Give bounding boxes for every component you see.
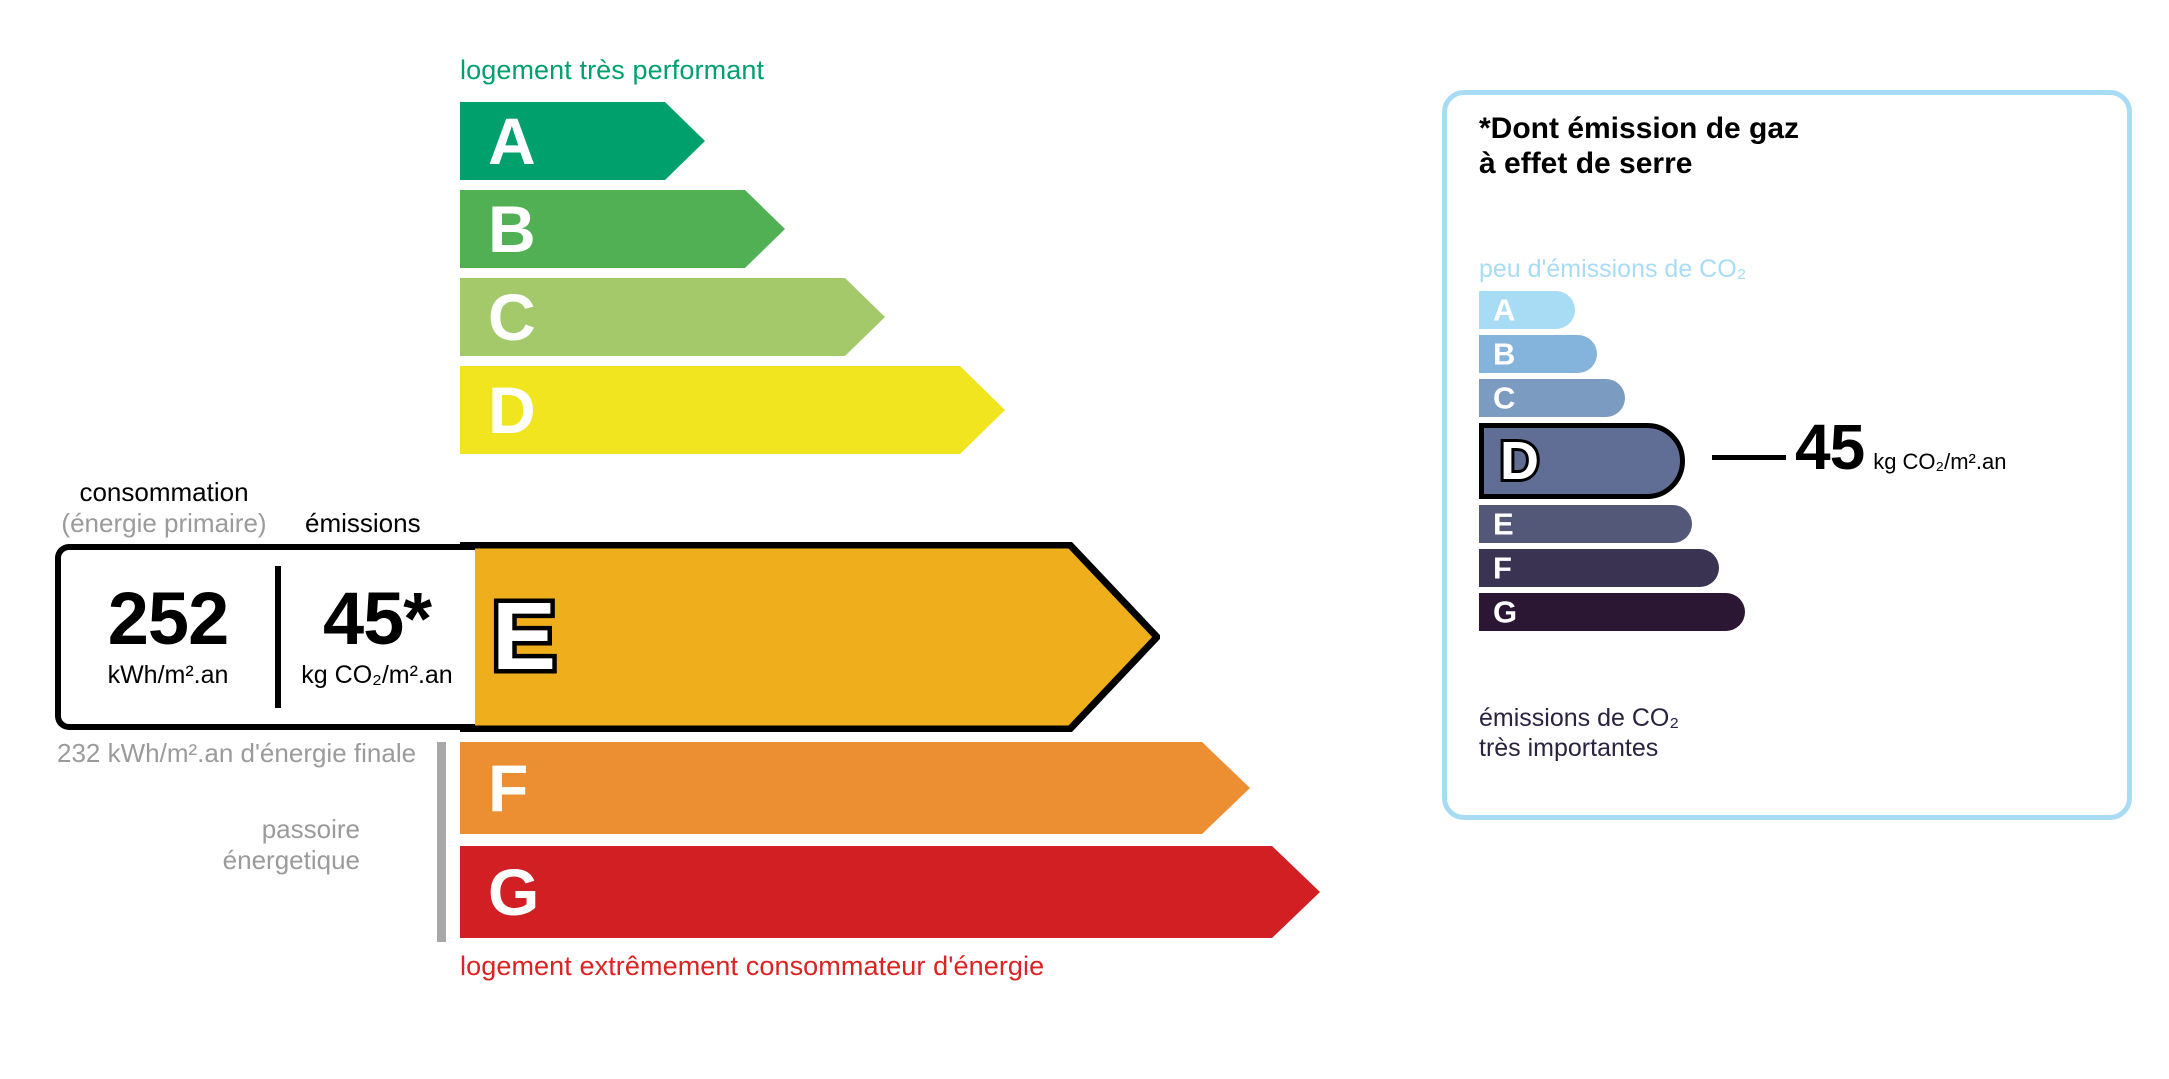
energy-performance-panel: logement très performant A B C (0, 0, 1380, 1079)
co2-caption-bottom: émissions de CO₂ très importantes (1479, 703, 1679, 763)
co2-leader-line (1712, 455, 1786, 460)
co2-bar-a: A (1479, 291, 1575, 329)
energy-caption-top: logement très performant (460, 55, 764, 86)
co2-bar-f: F (1479, 549, 1719, 587)
co2-class-row-b[interactable]: B (1479, 335, 1597, 373)
co2-class-row-c[interactable]: C (1479, 379, 1625, 417)
co2-measured-value: 45 (1795, 415, 1864, 479)
energy-arrow-g: G (460, 846, 1320, 938)
label-energie-primaire: (énergie primaire) (44, 508, 284, 539)
co2-emission-value: 45* (323, 584, 431, 654)
note-final-energy: 232 kWh/m².an d'énergie finale (57, 738, 416, 769)
energy-class-row-a[interactable]: A (460, 102, 705, 180)
co2-class-row-e[interactable]: E (1479, 505, 1692, 543)
passoire-indicator-bar (437, 742, 446, 942)
co2-class-row-d[interactable]: D (1479, 423, 1685, 499)
co2-class-letter-f: F (1493, 553, 1512, 584)
energy-class-row-f[interactable]: F (460, 742, 1250, 834)
co2-class-letter-a: A (1493, 295, 1515, 326)
co2-class-letter-d: D (1500, 434, 1539, 488)
co2-class-letter-b: B (1493, 339, 1515, 370)
co2-bar-c: C (1479, 379, 1625, 417)
co2-measured-unit: kg CO₂/m².an (1873, 449, 2006, 475)
energy-arrow-c: C (460, 278, 885, 356)
energy-class-row-e[interactable]: E (460, 542, 1160, 732)
energy-caption-bottom: logement extrêmement consommateur d'éner… (460, 951, 1044, 982)
label-emissions: émissions (305, 508, 421, 539)
co2-bar-b: B (1479, 335, 1597, 373)
energy-arrow-a: A (460, 102, 705, 180)
energy-class-row-d[interactable]: D (460, 366, 1005, 454)
co2-bar-e: E (1479, 505, 1692, 543)
co2-emission-unit: kg CO₂/m².an (301, 661, 452, 690)
energy-arrow-f: F (460, 742, 1250, 834)
label-consommation: consommation (57, 477, 271, 508)
consumption-value: 252 (108, 584, 228, 654)
note-passoire-energetique: passoire énergetique (170, 814, 360, 876)
energy-class-row-c[interactable]: C (460, 278, 885, 356)
co2-bar-g: G (1479, 593, 1745, 631)
value-box: 252 kWh/m².an 45* kg CO₂/m².an (55, 544, 475, 730)
co2-class-letter-c: C (1493, 383, 1515, 414)
co2-class-row-g[interactable]: G (1479, 593, 1745, 631)
co2-class-letter-g: G (1493, 597, 1517, 628)
consumption-value-cell: 252 kWh/m².an (61, 550, 275, 724)
co2-measured-value-group: 45 kg CO₂/m².an (1795, 415, 2006, 479)
co2-class-row-a[interactable]: A (1479, 291, 1575, 329)
co2-caption-top: peu d'émissions de CO₂ (1479, 255, 1746, 284)
co2-value-cell: 45* kg CO₂/m².an (279, 550, 475, 724)
energy-arrow-e: E (460, 542, 1160, 732)
co2-emissions-panel: *Dont émission de gaz à effet de serre p… (1442, 90, 2132, 820)
energy-class-row-g[interactable]: G (460, 846, 1320, 938)
co2-class-letter-e: E (1493, 509, 1514, 540)
energy-class-row-b[interactable]: B (460, 190, 785, 268)
energy-arrow-b: B (460, 190, 785, 268)
co2-bar-d: D (1479, 423, 1685, 499)
co2-panel-title: *Dont émission de gaz à effet de serre (1479, 111, 1799, 182)
co2-class-row-f[interactable]: F (1479, 549, 1719, 587)
consumption-unit: kWh/m².an (108, 661, 229, 690)
energy-arrow-d: D (460, 366, 1005, 454)
